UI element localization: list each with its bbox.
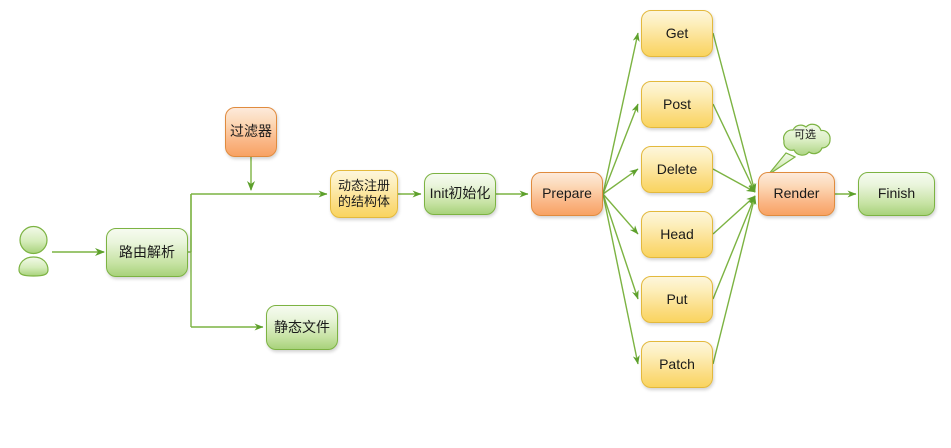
- edge-patch-to-render: [713, 196, 755, 364]
- node-method-get[interactable]: Get: [641, 10, 713, 57]
- flowchart-canvas: 可选 路由解析 过滤器 静态文件 动态注册 的结构体 Init初始化 Prepa…: [0, 0, 951, 448]
- user-actor-icon: [19, 227, 48, 277]
- node-prepare[interactable]: Prepare: [531, 172, 603, 216]
- edge-prepare-to-delete: [603, 169, 638, 194]
- node-finish[interactable]: Finish: [858, 172, 935, 216]
- node-static-file[interactable]: 静态文件: [266, 305, 338, 350]
- edge-prepare-to-put: [603, 194, 638, 299]
- edge-get-to-render: [713, 33, 755, 192]
- node-dynamic-register[interactable]: 动态注册 的结构体: [330, 170, 398, 218]
- edge-post-to-render: [713, 104, 755, 192]
- node-render[interactable]: Render: [758, 172, 835, 216]
- node-method-post[interactable]: Post: [641, 81, 713, 128]
- edge-put-to-render: [713, 196, 755, 299]
- edge-head-to-render: [713, 196, 755, 234]
- node-method-head[interactable]: Head: [641, 211, 713, 258]
- edge-delete-to-render: [713, 169, 755, 192]
- edge-prepare-to-head: [603, 194, 638, 234]
- node-init[interactable]: Init初始化: [424, 173, 496, 215]
- node-route-parse[interactable]: 路由解析: [106, 228, 188, 277]
- node-filter[interactable]: 过滤器: [225, 107, 277, 157]
- node-method-patch[interactable]: Patch: [641, 341, 713, 388]
- edge-layer: 可选: [0, 0, 951, 448]
- edge-prepare-to-get: [603, 33, 638, 194]
- optional-cloud-label: 可选: [794, 128, 816, 141]
- node-method-delete[interactable]: Delete: [641, 146, 713, 193]
- node-method-put[interactable]: Put: [641, 276, 713, 323]
- edge-prepare-to-patch: [603, 194, 638, 364]
- edge-prepare-to-post: [603, 104, 638, 194]
- optional-cloud-callout: 可选: [768, 124, 830, 175]
